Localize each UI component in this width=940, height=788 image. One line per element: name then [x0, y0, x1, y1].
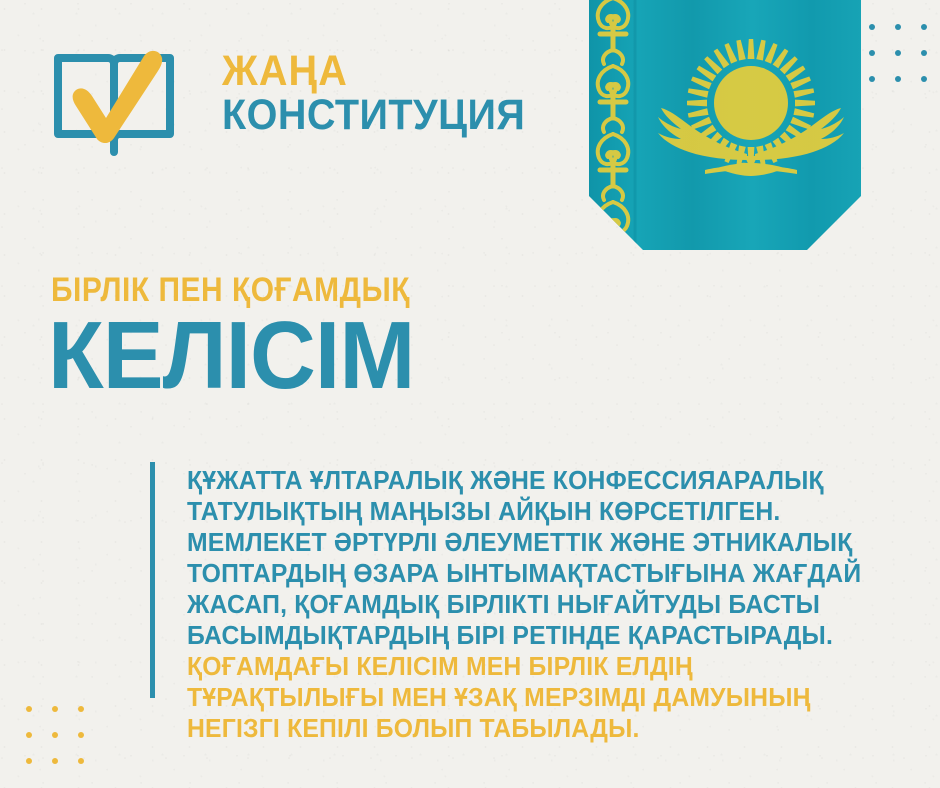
- kazakhstan-flag-banner: [589, 0, 861, 258]
- logo-word-konstitutsiya: КОНСТИТУЦИЯ: [222, 92, 525, 138]
- brand-logo: ЖАҢА КОНСТИТУЦИЯ: [52, 44, 472, 164]
- dot-grid-bottom-left: [26, 706, 84, 764]
- logo-word-janga: ЖАҢА: [222, 50, 525, 92]
- page-title: КЕЛІСІМ: [48, 310, 542, 402]
- body-text-highlight: ҚОҒАМДАҒЫ КЕЛІСІМ МЕН БІРЛІК ЕЛДІҢ ТҰРАҚ…: [187, 653, 811, 743]
- body-text-primary: ҚҰЖАТТА ҰЛТАРАЛЫҚ ЖӘНЕ КОНФЕССИЯАРАЛЫҚ Т…: [187, 467, 861, 650]
- body-accent-rule: [150, 462, 155, 698]
- logo-wordmark: ЖАҢА КОНСТИТУЦИЯ: [222, 50, 552, 138]
- headline-block: БІРЛІК ПЕН ҚОҒАМДЫҚ КЕЛІСІМ: [48, 272, 568, 402]
- dot-grid-top-right: [869, 24, 927, 82]
- open-book-checkmark-icon: [52, 46, 176, 158]
- body-paragraph: ҚҰЖАТТА ҰЛТАРАЛЫҚ ЖӘНЕ КОНФЕССИЯАРАЛЫҚ Т…: [187, 466, 866, 745]
